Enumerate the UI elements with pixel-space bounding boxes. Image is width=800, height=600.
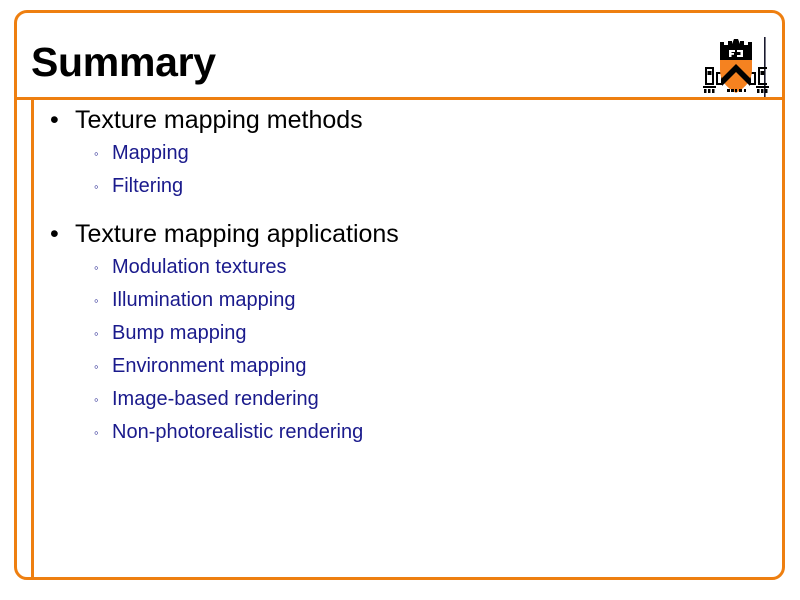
bullet-level1-label: Texture mapping applications xyxy=(75,220,399,248)
bullet-level2: ◦ Bump mapping xyxy=(34,317,774,350)
bullet-circle-icon: ◦ xyxy=(94,350,108,383)
bullet-circle-icon: ◦ xyxy=(94,383,108,416)
bullet-level1: • Texture mapping applications xyxy=(34,218,774,251)
bullet-level1: • Texture mapping methods xyxy=(34,104,774,137)
bullet-level2: ◦ Environment mapping xyxy=(34,350,774,383)
title-bar: Summary xyxy=(0,10,800,98)
bullet-level2: ◦ Illumination mapping xyxy=(34,284,774,317)
bullet-level2-label: Non-photorealistic rendering xyxy=(112,421,363,443)
sub-bullet-list: ◦ Mapping ◦ Filtering xyxy=(34,137,774,203)
section-spacer xyxy=(34,203,774,218)
presentation-slide: Summary xyxy=(0,0,800,600)
bullet-level2: ◦ Image-based rendering xyxy=(34,383,774,416)
bullet-level2-label: Illumination mapping xyxy=(112,289,295,311)
bullet-dot-icon: • xyxy=(50,218,64,251)
content-section: • Texture mapping applications ◦ Modulat… xyxy=(34,218,774,449)
princeton-shield-logo xyxy=(700,34,772,100)
bullet-level2-label: Modulation textures xyxy=(112,256,287,278)
bullet-dot-icon: • xyxy=(50,104,64,137)
page-title: Summary xyxy=(31,42,216,83)
bullet-circle-icon: ◦ xyxy=(94,137,108,170)
bullet-circle-icon: ◦ xyxy=(94,284,108,317)
bullet-circle-icon: ◦ xyxy=(94,317,108,350)
bullet-level2-label: Filtering xyxy=(112,175,183,197)
bullet-level2-label: Image-based rendering xyxy=(112,388,319,410)
bullet-circle-icon: ◦ xyxy=(94,251,108,284)
bullet-circle-icon: ◦ xyxy=(94,170,108,203)
bullet-level2-label: Environment mapping xyxy=(112,355,307,377)
sub-bullet-list: ◦ Modulation textures ◦ Illumination map… xyxy=(34,251,774,449)
bullet-circle-icon: ◦ xyxy=(94,416,108,449)
content-section: • Texture mapping methods ◦ Mapping ◦ Fi… xyxy=(34,104,774,203)
bullet-level2: ◦ Filtering xyxy=(34,170,774,203)
bullet-level2: ◦ Non-photorealistic rendering xyxy=(34,416,774,449)
bullet-level2-label: Mapping xyxy=(112,142,189,164)
bullet-level2: ◦ Modulation textures xyxy=(34,251,774,284)
slide-body: • Texture mapping methods ◦ Mapping ◦ Fi… xyxy=(34,104,774,574)
bullet-level2: ◦ Mapping xyxy=(34,137,774,170)
bullet-level1-label: Texture mapping methods xyxy=(75,106,363,134)
bullet-level2-label: Bump mapping xyxy=(112,322,247,344)
